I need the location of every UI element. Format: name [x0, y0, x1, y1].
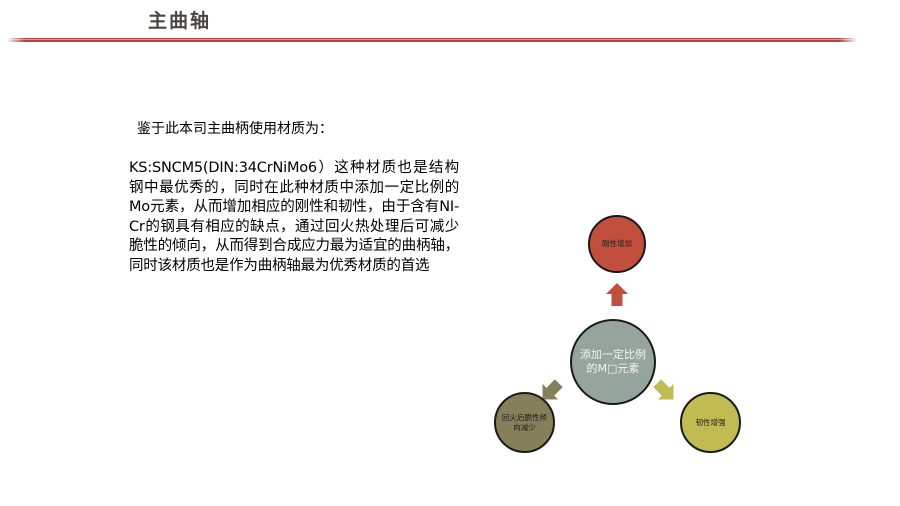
diagram-center-node[interactable]: 添加一定比例的M□元素: [570, 319, 656, 405]
diagram-node-temper-brittleness[interactable]: 回火后脆性倾向减少: [494, 392, 555, 453]
diagram-node-label: 刚性增加: [594, 239, 640, 249]
page-title: 主曲轴: [148, 8, 211, 34]
title-divider-rule: [8, 38, 856, 42]
diagram-node-rigidity[interactable]: 刚性增加: [588, 215, 646, 273]
lead-sentence: 鉴于此本司主曲柄使用材质为：: [137, 119, 459, 139]
slide-canvas: 主曲轴 鉴于此本司主曲柄使用材质为： KS:SNCM5(DIN:34CrNiMo…: [0, 0, 900, 506]
diagram-center-label: 添加一定比例的M□元素: [578, 348, 649, 376]
material-description-paragraph: KS:SNCM5(DIN:34CrNiMo6）这种材质也是结构钢中最优秀的，同时…: [129, 159, 459, 276]
diagram-node-toughness[interactable]: 韧性增强: [680, 392, 741, 453]
diagram-node-label: 韧性增强: [686, 418, 735, 428]
diagram-node-label: 回火后脆性倾向减少: [500, 413, 549, 433]
body-text-block: 鉴于此本司主曲柄使用材质为： KS:SNCM5(DIN:34CrNiMo6）这种…: [129, 119, 459, 276]
radial-relationship-diagram: 刚性增加 添加一定比例的M□元素 回火后脆性倾向减少 韧性增强: [470, 195, 800, 495]
